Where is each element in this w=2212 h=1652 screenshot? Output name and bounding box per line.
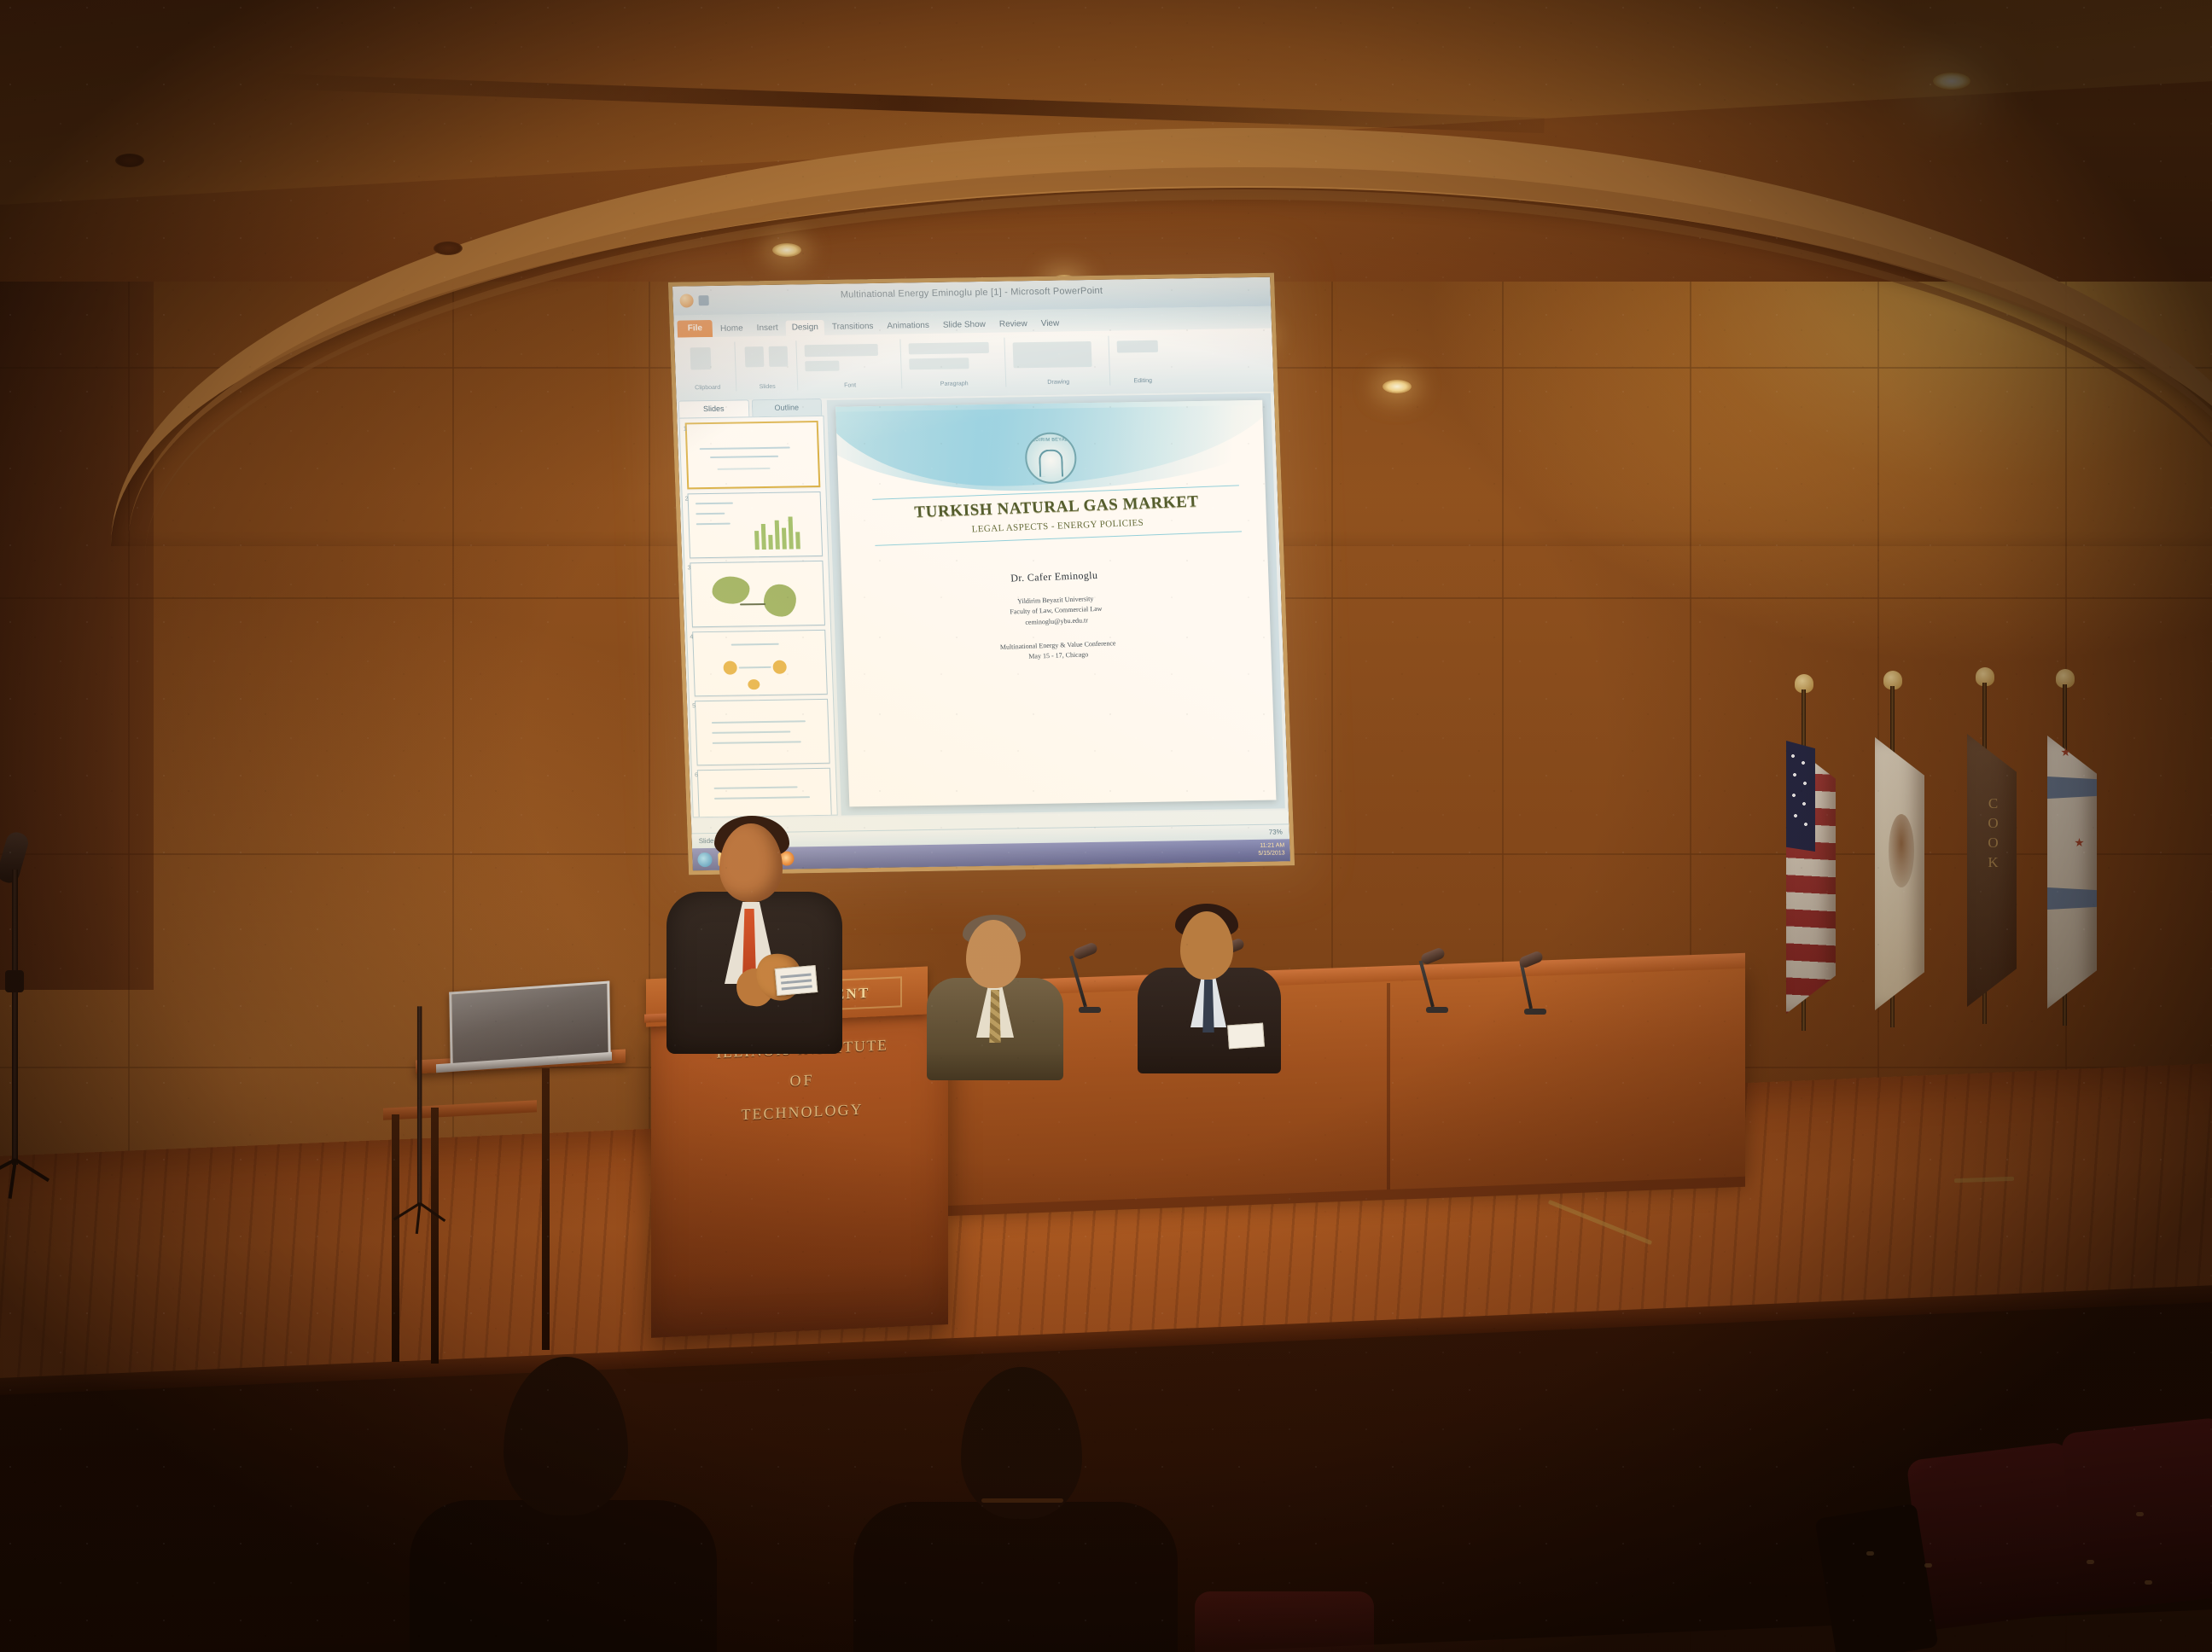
slide-thumbnail[interactable]: 2 bbox=[688, 492, 824, 558]
audience-collar bbox=[981, 1498, 1063, 1503]
clock-time: 11:21 AM bbox=[1260, 843, 1284, 849]
seal-text: YILDIRIM BEYAZIT bbox=[1026, 437, 1074, 443]
seat-hardware-glint bbox=[1924, 1563, 1932, 1568]
ribbon-group-slides: Slides bbox=[736, 340, 798, 391]
panelist-seated-left bbox=[940, 920, 1094, 1091]
slide-thumbnail-pane[interactable]: 1 2 bbox=[678, 416, 837, 817]
panelist-name-badge bbox=[1227, 1023, 1265, 1050]
ribbon-panel: Clipboard Slides Font Paragraph bbox=[674, 329, 1274, 402]
ribbon-group-paragraph: Paragraph bbox=[901, 338, 1006, 389]
tab-design[interactable]: Design bbox=[785, 320, 824, 336]
theater-seats bbox=[1788, 1416, 2212, 1652]
slides-outline-tabs[interactable]: Slides Outline bbox=[678, 398, 823, 418]
cook-flag-text: COOK bbox=[1984, 795, 2001, 874]
mic-stand-pole bbox=[12, 870, 18, 1165]
slide-thumbnail[interactable]: 5 bbox=[695, 699, 830, 765]
audience-head bbox=[504, 1357, 628, 1515]
tab-view[interactable]: View bbox=[1034, 316, 1065, 332]
ribbon-group-editing: Editing bbox=[1109, 334, 1174, 385]
auditorium-photo: Multinational Energy Eminoglu ple [1] - … bbox=[0, 0, 2212, 1652]
illinois-seal-icon bbox=[1889, 814, 1914, 887]
thumbnail-number: 1 bbox=[684, 426, 687, 432]
institution-line-2: OF bbox=[670, 1063, 934, 1098]
powerpoint-workspace: Slides Outline 1 2 bbox=[677, 392, 1289, 820]
flag-stars-icon bbox=[1788, 746, 1813, 846]
tab-outline[interactable]: Outline bbox=[751, 398, 822, 416]
ribbon-group-label: Clipboard bbox=[679, 385, 736, 392]
slide-thumbnail[interactable]: 3 bbox=[690, 561, 825, 627]
ribbon-group-label: Editing bbox=[1111, 377, 1174, 384]
thumbnail-number: 6 bbox=[695, 772, 698, 778]
slide-title-block: TURKISH NATURAL GAS MARKET LEGAL ASPECTS… bbox=[872, 485, 1242, 545]
cart-post bbox=[392, 1114, 399, 1362]
seat-hardware-glint bbox=[2136, 1512, 2144, 1516]
theater-seats bbox=[1195, 1574, 1553, 1652]
conference-info: Multinational Energy & Value Conference … bbox=[845, 633, 1272, 668]
mic-stand-tripod bbox=[0, 1160, 60, 1199]
chicago-flag-stripe bbox=[2047, 777, 2097, 799]
ribbon-group-label: Paragraph bbox=[903, 381, 1005, 388]
slide-presenter-block: Dr. Cafer Eminoglu Yildirim Beyazit Univ… bbox=[841, 563, 1272, 669]
slide-thumbnail[interactable]: 1 bbox=[685, 421, 821, 489]
ribbon-group-font: Font bbox=[797, 340, 902, 391]
ribbon-group-label: Drawing bbox=[1007, 379, 1109, 387]
thumbnail-number: 3 bbox=[687, 565, 690, 571]
speaker-name-badge bbox=[775, 965, 818, 996]
tab-transitions[interactable]: Transitions bbox=[826, 319, 880, 335]
downlight-icon bbox=[115, 154, 144, 167]
cart-post bbox=[431, 1108, 439, 1364]
cart-post bbox=[542, 1068, 550, 1350]
mic-stand-clutch bbox=[5, 970, 24, 992]
tab-animations[interactable]: Animations bbox=[881, 318, 935, 334]
ribbon-group-drawing: Drawing bbox=[1005, 336, 1110, 387]
zoom-level[interactable]: 73% bbox=[1269, 828, 1283, 835]
slide-thumbnail[interactable]: 4 bbox=[692, 630, 828, 696]
seat-back bbox=[1906, 1441, 2088, 1631]
seat-back bbox=[1195, 1591, 1374, 1652]
downlight-icon bbox=[1933, 73, 1970, 90]
audience-member bbox=[853, 1367, 1178, 1652]
table-seam bbox=[1387, 983, 1390, 1191]
ribbon-group-clipboard: Clipboard bbox=[678, 342, 736, 393]
mic-stand-pole bbox=[417, 1006, 422, 1206]
downlight-icon bbox=[434, 241, 463, 255]
projected-desktop: Multinational Energy Eminoglu ple [1] - … bbox=[672, 277, 1290, 871]
chicago-flag-stripe bbox=[2047, 887, 2097, 910]
speaker-at-podium bbox=[661, 823, 858, 1054]
presenter-name: Dr. Cafer Eminoglu bbox=[841, 563, 1267, 590]
seat-hardware-glint bbox=[2145, 1580, 2152, 1585]
audience-head bbox=[961, 1367, 1082, 1519]
tab-file[interactable]: File bbox=[677, 320, 713, 338]
tab-home[interactable]: Home bbox=[714, 321, 749, 337]
flag-row: COOK bbox=[1771, 674, 2129, 1050]
seat-hardware-glint bbox=[1866, 1551, 1874, 1556]
tab-slides[interactable]: Slides bbox=[678, 399, 749, 417]
powerpoint-title-text: Multinational Energy Eminoglu ple [1] - … bbox=[672, 283, 1270, 303]
seat-hardware-glint bbox=[2087, 1560, 2094, 1564]
av-cart bbox=[416, 980, 646, 1381]
clock-date: 5/15/2013 bbox=[1258, 850, 1284, 856]
panelist-seated-right bbox=[1156, 911, 1310, 1091]
taskbar-clock[interactable]: 11:21 AM 5/15/2013 bbox=[1258, 843, 1285, 858]
thumbnail-number: 4 bbox=[690, 634, 693, 640]
audience-shoulders bbox=[853, 1502, 1178, 1652]
audience-member bbox=[410, 1357, 717, 1652]
mic-stand-tripod bbox=[385, 1203, 454, 1234]
thumbnail-number: 5 bbox=[692, 703, 696, 709]
tab-review[interactable]: Review bbox=[993, 317, 1033, 333]
tab-slide-show[interactable]: Slide Show bbox=[937, 317, 992, 334]
current-slide[interactable]: YILDIRIM BEYAZIT TURKISH NATURAL GAS MAR… bbox=[835, 400, 1276, 807]
projection-screen: Multinational Energy Eminoglu ple [1] - … bbox=[668, 273, 1295, 875]
slide-editing-stage[interactable]: YILDIRIM BEYAZIT TURKISH NATURAL GAS MAR… bbox=[827, 393, 1285, 816]
downlight-icon bbox=[772, 243, 801, 257]
ribbon-group-label: Font bbox=[799, 381, 901, 389]
flag-cloth bbox=[2047, 736, 2097, 1009]
ribbon-group-label: Slides bbox=[737, 383, 797, 390]
slide-thumbnail[interactable]: 6 bbox=[697, 768, 833, 818]
thumbnail-number: 2 bbox=[685, 496, 689, 502]
audience-shoulders bbox=[410, 1500, 717, 1652]
tab-insert[interactable]: Insert bbox=[750, 321, 784, 337]
seal-arch-icon bbox=[1039, 450, 1063, 477]
presenter-affiliation: Yildirim Beyazit University Faculty of L… bbox=[842, 588, 1271, 635]
downlight-icon bbox=[1382, 380, 1412, 393]
